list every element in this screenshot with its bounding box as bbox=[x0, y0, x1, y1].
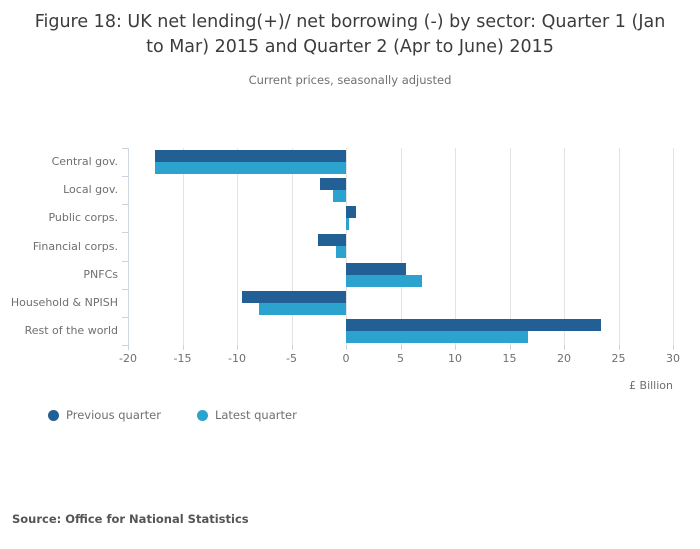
y-axis-tick-label: Public corps. bbox=[0, 211, 118, 224]
bar-group bbox=[128, 289, 673, 317]
chart-plot-wrapper: Central gov.Local gov.Public corps.Finan… bbox=[0, 0, 700, 549]
legend-item-previous-quarter[interactable]: Previous quarter bbox=[48, 408, 161, 422]
chart-legend: Previous quarter Latest quarter bbox=[48, 408, 297, 422]
y-axis-labels: Central gov.Local gov.Public corps.Finan… bbox=[0, 148, 118, 345]
y-axis-tick-mark bbox=[122, 232, 128, 233]
y-axis-tick-label: Local gov. bbox=[0, 183, 118, 196]
bar-group bbox=[128, 232, 673, 260]
y-axis-tick-mark bbox=[122, 148, 128, 149]
bar[interactable] bbox=[336, 246, 346, 258]
bar[interactable] bbox=[346, 319, 601, 331]
x-axis-tick-mark bbox=[564, 345, 565, 350]
x-axis-tick-label: -5 bbox=[286, 352, 297, 365]
y-axis-tick-label: Central gov. bbox=[0, 155, 118, 168]
legend-label: Latest quarter bbox=[215, 408, 297, 422]
y-axis-tick-mark bbox=[122, 289, 128, 290]
source-note: Source: Office for National Statistics bbox=[12, 512, 249, 526]
bar-group bbox=[128, 148, 673, 176]
bar[interactable] bbox=[318, 234, 346, 246]
x-axis-tick-label: 20 bbox=[557, 352, 571, 365]
legend-item-latest-quarter[interactable]: Latest quarter bbox=[197, 408, 297, 422]
x-axis-tick-label: -10 bbox=[228, 352, 246, 365]
y-axis-tick-label: Rest of the world bbox=[0, 324, 118, 337]
bar-group bbox=[128, 176, 673, 204]
plot-area bbox=[128, 148, 673, 345]
bar[interactable] bbox=[333, 190, 346, 202]
gridline-30 bbox=[673, 148, 674, 345]
x-axis-tick-label: 10 bbox=[448, 352, 462, 365]
x-axis-tick-label: 0 bbox=[343, 352, 350, 365]
x-axis-tick-mark bbox=[183, 345, 184, 350]
bar-group bbox=[128, 261, 673, 289]
bar[interactable] bbox=[259, 303, 346, 315]
y-axis-tick-label: Financial corps. bbox=[0, 240, 118, 253]
bar[interactable] bbox=[346, 331, 528, 343]
y-axis-tick-mark bbox=[122, 176, 128, 177]
y-axis-tick-label: Household & NPISH bbox=[0, 296, 118, 309]
y-axis-tick-mark bbox=[122, 317, 128, 318]
bar-group bbox=[128, 204, 673, 232]
x-axis-tick-label: 15 bbox=[503, 352, 517, 365]
x-axis-tick-mark bbox=[401, 345, 402, 350]
y-axis-tick-mark bbox=[122, 204, 128, 205]
x-axis-tick-mark bbox=[292, 345, 293, 350]
bar[interactable] bbox=[346, 275, 422, 287]
x-axis-tick-label: 25 bbox=[612, 352, 626, 365]
x-axis-title: £ Billion bbox=[0, 379, 673, 392]
legend-dot-icon bbox=[197, 410, 208, 421]
legend-dot-icon bbox=[48, 410, 59, 421]
bar-group bbox=[128, 317, 673, 345]
bar[interactable] bbox=[346, 218, 349, 230]
x-axis-tick-label: -20 bbox=[119, 352, 137, 365]
bar[interactable] bbox=[155, 162, 346, 174]
x-axis-tick-mark bbox=[619, 345, 620, 350]
legend-label: Previous quarter bbox=[66, 408, 161, 422]
x-axis-tick-mark bbox=[237, 345, 238, 350]
x-axis-tick-label: -15 bbox=[174, 352, 192, 365]
bar[interactable] bbox=[346, 206, 356, 218]
bar[interactable] bbox=[155, 150, 346, 162]
bar[interactable] bbox=[242, 291, 346, 303]
y-axis-tick-mark bbox=[122, 345, 128, 346]
x-axis-tick-mark bbox=[510, 345, 511, 350]
y-axis-tick-mark bbox=[122, 261, 128, 262]
x-axis-tick-mark bbox=[673, 345, 674, 350]
y-axis-tick-label: PNFCs bbox=[0, 268, 118, 281]
x-axis-tick-mark bbox=[346, 345, 347, 350]
x-axis-tick-label: 5 bbox=[397, 352, 404, 365]
bar[interactable] bbox=[346, 263, 406, 275]
x-axis-tick-mark bbox=[128, 345, 129, 350]
x-axis-tick-mark bbox=[455, 345, 456, 350]
bar[interactable] bbox=[320, 178, 346, 190]
x-axis-tick-label: 30 bbox=[666, 352, 680, 365]
